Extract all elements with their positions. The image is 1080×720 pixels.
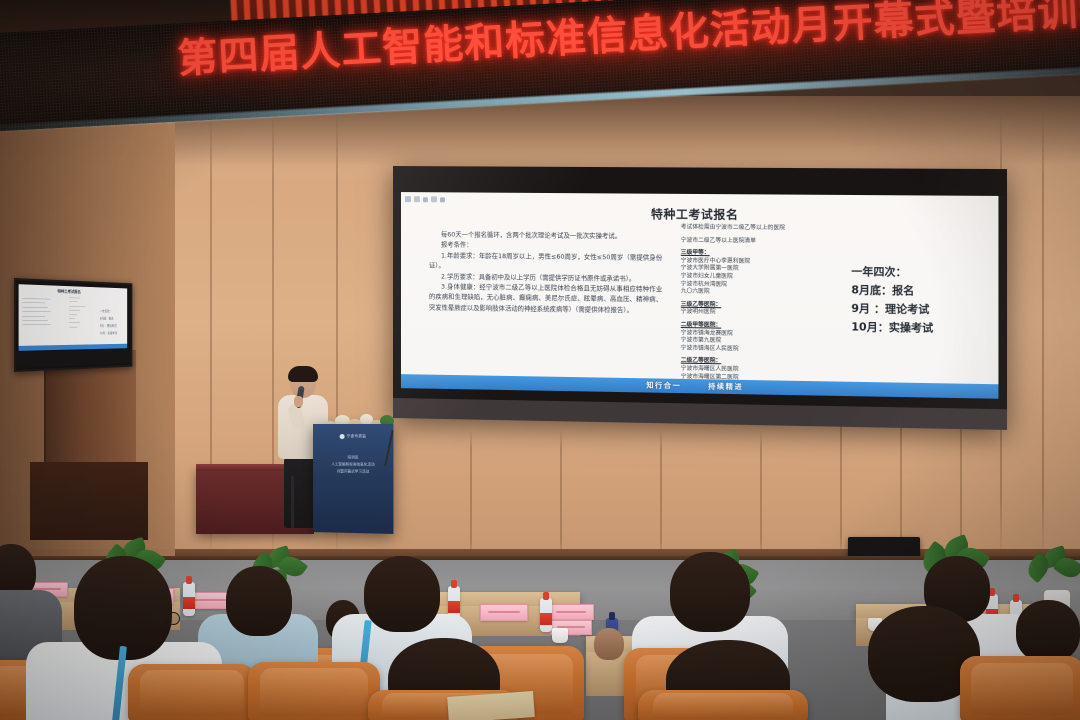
side-monitor-right-l4: 10月：实操考试	[100, 331, 117, 335]
slides-icon[interactable]	[431, 196, 437, 202]
slide-footer-left: 知行合一	[646, 380, 681, 391]
wall-panel-seam	[1042, 110, 1044, 560]
slide-right-l2: 8月底：报名	[851, 281, 989, 301]
presenter-hand	[294, 396, 303, 407]
presenter-leg-gap	[291, 476, 294, 528]
pen-icon[interactable]	[414, 196, 420, 202]
menu-icon[interactable]	[423, 197, 428, 202]
podium-line3: 月暨开幕式学习活动	[313, 468, 393, 476]
slide-mid-lead2: 宁波市二级乙等以上医院清单	[681, 237, 837, 246]
logo-mark-icon	[340, 434, 345, 439]
side-monitor-left: 特种工考试报名 —————————— ———————— ————————— ——…	[14, 278, 132, 372]
water-bottle	[540, 598, 552, 632]
conference-hall-photo: 第四届人工智能和标准信息化活动月开幕式暨培训学习会 特种工考试报名 ——————…	[0, 0, 1080, 720]
slide-right-column: 一年四次： 8月底：报名 9月 ：理论考试 10月：实操考试	[851, 263, 989, 339]
table-name-card	[480, 604, 528, 621]
side-monitor-bezel	[16, 349, 131, 368]
audience-chair	[638, 690, 808, 720]
hospital-list-item: 九〇六医院	[681, 289, 837, 299]
side-monitor-right-l2: 8月底：报名	[100, 317, 114, 321]
audience-chair	[960, 656, 1080, 720]
slide-footer-right: 持续精进	[708, 381, 743, 392]
wall-panel-seam	[660, 430, 662, 560]
stage-door-shadow	[30, 462, 148, 540]
side-monitor-slide: 特种工考试报名 —————————— ———————— ————————— ——…	[19, 284, 128, 346]
podium-logo: 宁波市质监	[340, 434, 367, 439]
wall-panel-seam	[760, 430, 762, 560]
side-monitor-slide-title: 特种工考试报名	[58, 289, 81, 295]
table-name-card	[548, 604, 594, 620]
slide-mid-column: 考试体检需由宁波市二级乙等以上的医院 宁波市二级乙等以上医院清单 三级甲等：宁波…	[681, 224, 837, 383]
slide-left-p3: 1.年龄要求：年龄在18周岁以上，男性≤60周岁，女性≤50周岁（需提供身份证）…	[429, 251, 662, 274]
podium-sign-text: 培训班 人工智能和标准信息化活动 月暨开幕式学习活动	[313, 454, 393, 476]
slide-left-p5: 3.身体健康：经宁波市二级乙等以上医院体检合格且无妨碍从事相应特种作业的疾病和生…	[429, 282, 662, 316]
slide-right-l1: 一年四次：	[851, 263, 989, 283]
handout-booklet	[447, 691, 535, 720]
zoom-icon[interactable]	[440, 197, 445, 202]
hospital-list-item: 宁波市镇海区人民医院	[681, 345, 837, 355]
audience-chair	[248, 662, 380, 720]
side-monitor-right-l3: 9月 ：理论考试	[100, 324, 117, 328]
water-bottle	[183, 582, 195, 616]
wall-panel-seam	[470, 430, 472, 560]
main-projection-screen: 特种工考试报名 每60天一个报名循环，含两个批次理论考试及一批次实操考试。 报考…	[393, 166, 1007, 430]
presentation-slide: 特种工考试报名 每60天一个报名循环，含两个批次理论考试及一批次实操考试。 报考…	[401, 192, 998, 384]
hospital-group-list: 三级甲等：宁波市医疗中心李惠利医院宁波大学附属第一医院宁波市妇女儿童医院宁波市杭…	[681, 250, 837, 384]
slide-mid-lead1: 考试体检需由宁波市二级乙等以上的医院	[681, 224, 837, 233]
hospital-list-item: 宁波明州医院	[681, 309, 837, 319]
slide-left-column: 每60天一个报名循环，含两个批次理论考试及一批次实操考试。 报考条件： 1.年龄…	[429, 230, 662, 317]
eyeglasses-icon	[152, 612, 178, 623]
slide-right-l3: 9月 ：理论考试	[851, 300, 989, 320]
audience-chair	[128, 664, 256, 720]
paper-cup	[552, 628, 568, 643]
side-monitor-right-l1: 一年四次：	[100, 309, 112, 313]
screen-letterbox-top	[393, 166, 1007, 196]
wall-panel-seam	[560, 430, 562, 560]
slide-right-l4: 10月：实操考试	[851, 318, 989, 338]
podium-org-name: 宁波市质监	[347, 434, 367, 439]
presenter-hair	[288, 366, 318, 382]
pointer-icon[interactable]	[405, 196, 411, 202]
slide-title: 特种工考试报名	[401, 204, 998, 225]
podium: 宁波市质监 培训班 人工智能和标准信息化活动 月暨开幕式学习活动	[313, 424, 393, 534]
powerpoint-toolbar[interactable]	[405, 196, 445, 202]
